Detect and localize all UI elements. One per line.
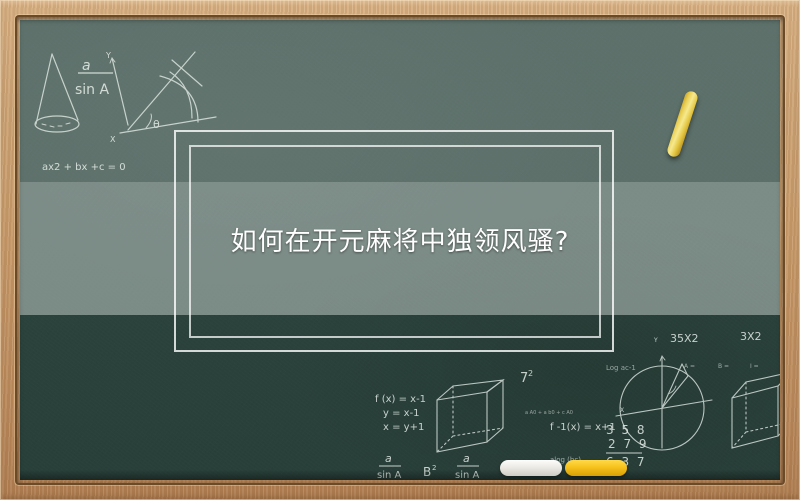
chalkboard-screenshot: a sin A Y X θ ax2 + bx +c = 0 f (x) = x-… [0, 0, 800, 500]
board-inner-bevel [17, 17, 783, 483]
